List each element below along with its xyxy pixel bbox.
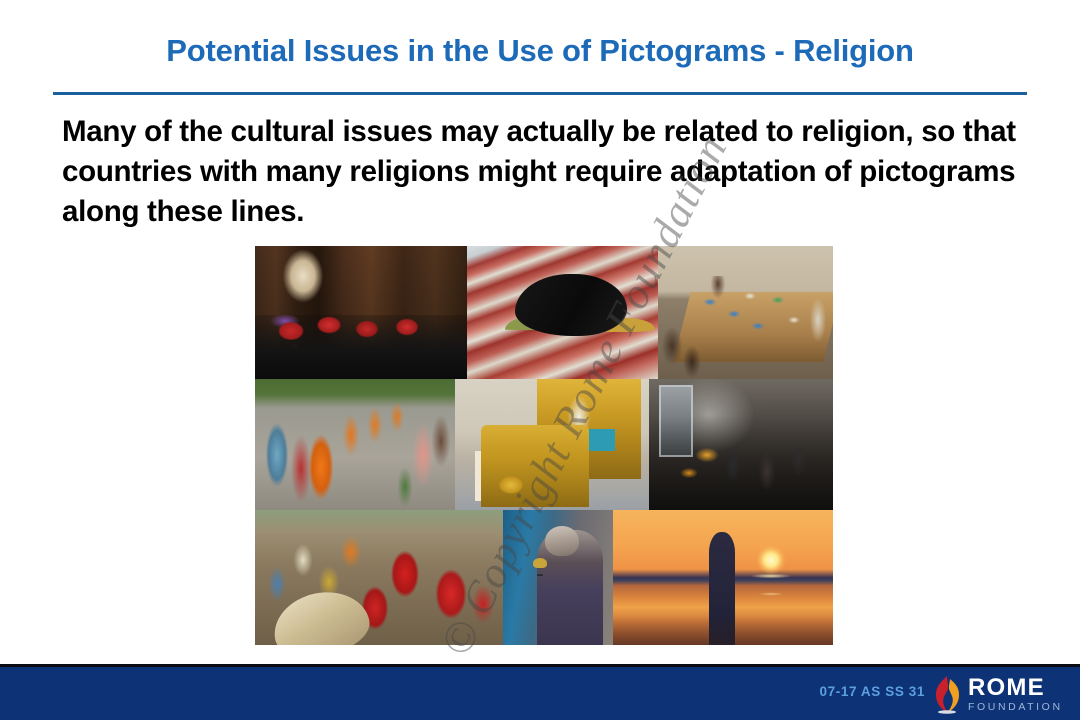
flame-icon <box>930 674 964 714</box>
slide-canvas: Potential Issues in the Use of Pictogram… <box>0 0 1080 720</box>
photo-children-at-table <box>658 246 833 379</box>
rome-foundation-logo: ROME FOUNDATION <box>930 671 1072 717</box>
photo-incense-offering <box>649 379 833 510</box>
photo-sunset-silhouette <box>613 510 833 645</box>
photo-monk-alms-round <box>255 379 455 510</box>
photo-muslim-prostration <box>467 246 658 379</box>
collage-row <box>255 246 833 379</box>
photo-prayer-wheel <box>503 510 613 645</box>
rome-logo-subtitle: FOUNDATION <box>968 702 1063 713</box>
photo-crucifix-procession <box>255 246 467 379</box>
collage-row <box>255 379 833 510</box>
footer-bar: 07-17 AS SS 31 ROME FOUNDATION <box>0 664 1080 720</box>
rome-wordmark: ROME FOUNDATION <box>968 676 1063 713</box>
collage-row <box>255 510 833 645</box>
title-divider <box>53 92 1027 95</box>
religion-photo-collage <box>255 246 833 645</box>
body-paragraph: Many of the cultural issues may actually… <box>62 112 1032 232</box>
rome-logo-name: ROME <box>968 676 1063 700</box>
footer-slide-code: 07-17 AS SS 31 <box>820 684 925 699</box>
photo-african-ceremony <box>255 510 503 645</box>
photo-golden-shrine <box>455 379 649 510</box>
page-title: Potential Issues in the Use of Pictogram… <box>0 33 1080 69</box>
